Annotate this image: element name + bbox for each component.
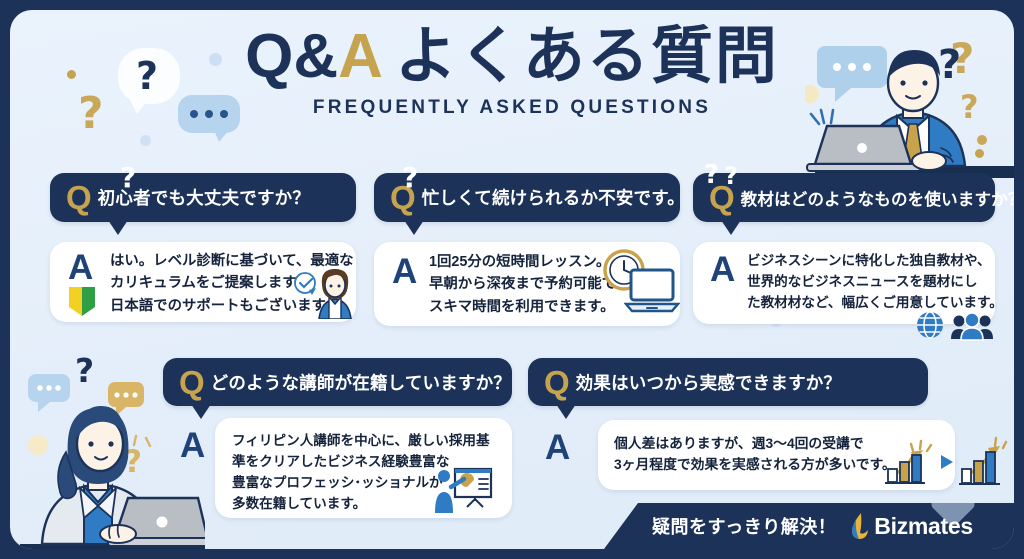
question-text-5: 効果はいつから実感できますか？ (576, 370, 842, 395)
a-letter-2: A (392, 254, 417, 289)
question-text-2: 忙しくて続けられるか不安です。 (422, 185, 685, 210)
a-letter-3: A (710, 252, 735, 287)
faq-question-bar-2[interactable]: ? Q 忙しくて続けられるか不安です。 (374, 173, 680, 222)
faq-poster: ? ? ? ? ? (0, 0, 1024, 559)
brand-name: Bizmates (874, 513, 973, 540)
question-mark-decor-3a: ? (704, 160, 719, 190)
faq-question-bar-5[interactable]: Q 効果はいつから実感できますか？ (528, 358, 928, 406)
title-letter-a: A (338, 22, 383, 91)
answer-text-5: 個人差はありますが、週3〜4回の受講で 3ヶ月程度で効果を実感される方が多いです… (614, 433, 896, 476)
question-mark-decor-2: ? (402, 161, 418, 194)
a-letter-1: A (68, 250, 93, 285)
answer-line: スキマ時間を利用できます。 (429, 296, 630, 318)
bizmates-flame-logo-icon (848, 512, 870, 540)
footer-tagline: 疑問をすっきり解決！ (652, 513, 836, 539)
people-group-icon (950, 313, 994, 346)
a-letter-5: A (545, 430, 570, 465)
faq-question-bar-1[interactable]: ? Q 初心者でも大丈夫ですか？ (50, 173, 356, 222)
svg-text:?: ? (75, 351, 94, 390)
bar-chart-icon (958, 436, 1010, 491)
check-bubble-icon (293, 272, 319, 301)
growth-chart-icon (883, 438, 937, 491)
answer-line: 早朝から深夜まで予約可能で、 (429, 273, 630, 295)
answer-text-3: ビジネスシーンに特化した独自教材や、 世界的なビジネスニュースを題材にし た教材… (747, 250, 1003, 313)
q-letter-1: Q (66, 181, 92, 214)
question-mark-decor-1: ? (120, 161, 136, 194)
presenter-icon (431, 463, 493, 518)
decor-dot-blue-2 (140, 135, 151, 146)
laptop-icon (624, 268, 680, 319)
answer-line: フィリピン人講師を中心に、厳しい採用基 (232, 430, 490, 451)
q-letter-5: Q (544, 366, 570, 399)
answer-line: ビジネスシーンに特化した独自教材や、 (747, 250, 1003, 271)
page-title: Q&Aよくある質問 (10, 24, 1014, 89)
globe-icon (915, 310, 945, 345)
answer-text-2: 1回25分の短時間レッスン。 早朝から深夜まで予約可能で、 スキマ時間を利用でき… (429, 251, 630, 318)
faq-question-bar-4[interactable]: Q どのような講師が在籍していますか？ (163, 358, 512, 406)
poster-panel: ? ? ? ? ? (10, 10, 1014, 549)
title-japanese: よくある質問 (395, 22, 779, 91)
page-header: Q&Aよくある質問 FREQUENTLY ASKED QUESTIONS (10, 24, 1014, 119)
question-text-4: どのような講師が在籍していますか？ (211, 370, 511, 395)
answer-line: 世界的なビジネスニュースを題材にし (747, 271, 1003, 292)
a-letter-4: A (180, 428, 205, 463)
answer-line: 個人差はありますが、週3〜4回の受講で (614, 433, 896, 454)
answer-line: 1回25分の短時間レッスン。 (429, 251, 630, 273)
question-text-3: 教材はどのようなものを使いますか？ (741, 186, 1014, 210)
arrow-right-icon (940, 454, 954, 475)
page-subtitle: FREQUENTLY ASKED QUESTIONS (10, 97, 1014, 119)
woman-avatar-icon (317, 267, 353, 324)
question-mark-decor-3b: ? (724, 162, 738, 190)
faq-question-bar-3[interactable]: ? ? Q 教材はどのようなものを使いますか？ (693, 173, 995, 222)
answer-line: た教材材など、幅広くご用意しています。 (747, 292, 1003, 313)
title-letter-q: Q (245, 22, 293, 91)
q-letter-4: Q (179, 366, 205, 399)
footer-banner: 疑問をすっきり解決！ Bizmates (604, 503, 1014, 549)
title-ampersand: & (293, 22, 338, 91)
beginner-mark-icon (67, 285, 97, 322)
answer-line: 3ヶ月程度で効果を実感される方が多いです。 (614, 454, 896, 475)
